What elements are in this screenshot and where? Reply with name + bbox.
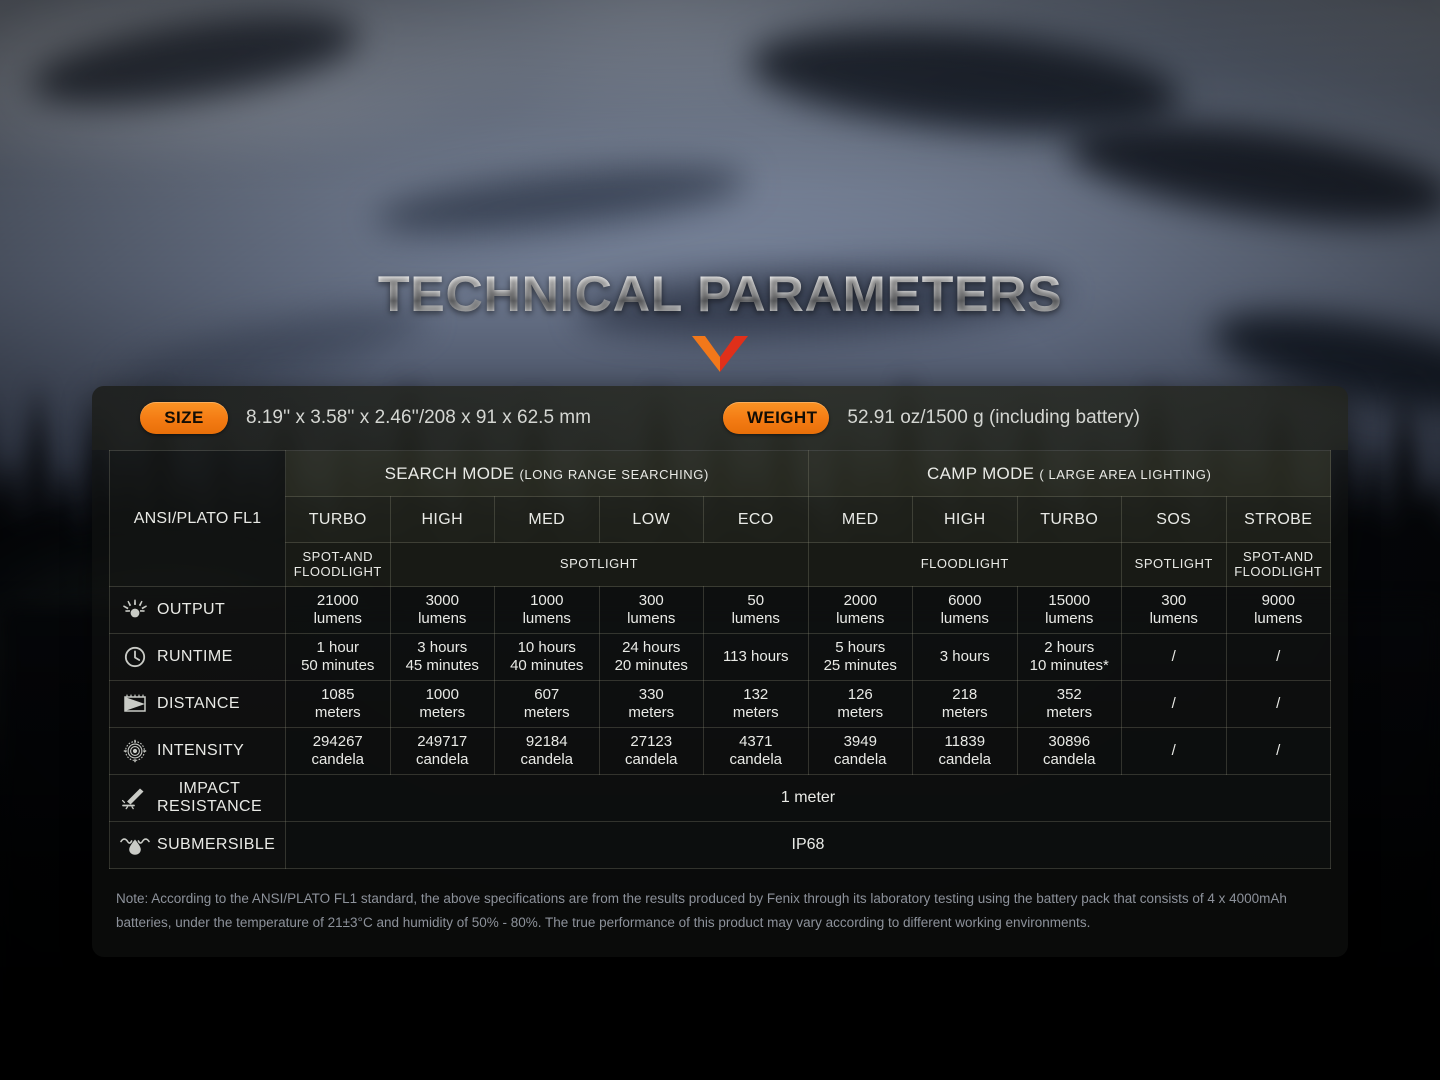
cell-value: 21000	[289, 592, 387, 610]
row-label-output: OUTPUT	[110, 587, 286, 634]
cell-distance-9: /	[1226, 681, 1331, 728]
cell-intensity-7: 30896candela	[1017, 728, 1122, 775]
cell-output-8: 300lumens	[1122, 587, 1227, 634]
cell-unit: meters	[289, 704, 387, 722]
cell-unit: lumens	[812, 610, 910, 628]
cell-impact-resistance-value: 1 meter	[286, 775, 1331, 822]
cell-value: /	[1230, 648, 1328, 666]
mode-header-6: HIGH	[913, 497, 1018, 543]
cell-value: 294267	[289, 733, 387, 751]
row-label-text: OUTPUT	[157, 601, 225, 619]
brightness-sun-icon	[120, 597, 150, 623]
size-badge-label: SIZE	[164, 408, 203, 428]
cell-output-9: 9000lumens	[1226, 587, 1331, 634]
cell-unit: lumens	[916, 610, 1014, 628]
cell-output-2: 1000lumens	[495, 587, 600, 634]
cell-value: 1000	[394, 686, 492, 704]
cell-unit: meters	[394, 704, 492, 722]
cell-value: 1 hour	[289, 639, 387, 657]
cell-unit: lumens	[498, 610, 596, 628]
mode-group-subtitle: (LONG RANGE SEARCHING)	[519, 467, 708, 482]
mode-group-header-0: SEARCH MODE (LONG RANGE SEARCHING)	[286, 451, 809, 497]
cell-unit: lumens	[394, 610, 492, 628]
cell-intensity-3: 27123candela	[599, 728, 704, 775]
title-section: TECHNICAL PARAMETERS	[0, 268, 1440, 373]
mode-header-2: MED	[495, 497, 600, 543]
mode-header-0: TURBO	[286, 497, 391, 543]
cell-value: 1085	[289, 686, 387, 704]
header-row-beams: SPOT-ANDFLOODLIGHTSPOTLIGHTFLOODLIGHTSPO…	[110, 543, 1331, 587]
table-row: IMPACTRESISTANCE1 meter	[110, 775, 1331, 822]
mode-group-name: CAMP MODE	[927, 464, 1034, 483]
mode-header-3: LOW	[599, 497, 704, 543]
cell-distance-2: 607meters	[495, 681, 600, 728]
size-value: 8.19'' x 3.58'' x 2.46''/208 x 91 x 62.5…	[246, 407, 591, 429]
cell-value: /	[1125, 695, 1223, 713]
cell-distance-5: 126meters	[808, 681, 913, 728]
mode-group-subtitle: ( LARGE AREA LIGHTING)	[1039, 467, 1211, 482]
cell-value: 50	[707, 592, 805, 610]
cell-output-4: 50lumens	[704, 587, 809, 634]
cell-value: 5 hours	[812, 639, 910, 657]
header-row-modes: TURBOHIGHMEDLOWECOMEDHIGHTURBOSOSSTROBE	[110, 497, 1331, 543]
cell-runtime-2: 10 hours40 minutes	[495, 634, 600, 681]
cell-value: 126	[812, 686, 910, 704]
cell-value: 132	[707, 686, 805, 704]
cell-unit: meters	[812, 704, 910, 722]
cell-output-1: 3000lumens	[390, 587, 495, 634]
cell-unit: candela	[812, 751, 910, 769]
weight-badge: WEIGHT	[723, 402, 829, 434]
cell-runtime-6: 3 hours	[913, 634, 1018, 681]
cell-value: /	[1230, 695, 1328, 713]
cell-unit: lumens	[603, 610, 701, 628]
cell-runtime-7: 2 hours10 minutes*	[1017, 634, 1122, 681]
cell-intensity-1: 249717candela	[390, 728, 495, 775]
row-label-text: DISTANCE	[157, 695, 240, 713]
water-drop-icon	[120, 832, 150, 858]
row-label-text: IMPACTRESISTANCE	[157, 780, 262, 815]
cell-value: 24 hours	[603, 639, 701, 657]
mode-header-9: STROBE	[1226, 497, 1331, 543]
cell-value: 20 minutes	[603, 657, 701, 675]
table-row: INTENSITY294267candela249717candela92184…	[110, 728, 1331, 775]
cell-value: 607	[498, 686, 596, 704]
cell-distance-7: 352meters	[1017, 681, 1122, 728]
weight-group: WEIGHT 52.91 oz/1500 g (including batter…	[723, 402, 1140, 434]
beam-type-header-0: SPOT-ANDFLOODLIGHT	[286, 543, 391, 587]
cell-value: 25 minutes	[812, 657, 910, 675]
mode-header-1: HIGH	[390, 497, 495, 543]
cell-value: 3949	[812, 733, 910, 751]
cell-unit: lumens	[707, 610, 805, 628]
beam-type-header-1: SPOTLIGHT	[390, 543, 808, 587]
target-intensity-icon	[120, 738, 150, 764]
cell-value: 92184	[498, 733, 596, 751]
cell-output-5: 2000lumens	[808, 587, 913, 634]
spec-panel: SIZE 8.19'' x 3.58'' x 2.46''/208 x 91 x…	[92, 386, 1348, 957]
cell-distance-8: /	[1122, 681, 1227, 728]
page-title: TECHNICAL PARAMETERS	[378, 268, 1062, 321]
cell-unit: meters	[916, 704, 1014, 722]
beam-type-header-2: FLOODLIGHT	[808, 543, 1122, 587]
row-label-distance: DISTANCE	[110, 681, 286, 728]
row-label-text: INTENSITY	[157, 742, 244, 760]
cell-value: 10 hours	[498, 639, 596, 657]
row-label-text: SUBMERSIBLE	[157, 836, 275, 854]
header-row-groups: ANSI/PLATO FL1SEARCH MODE (LONG RANGE SE…	[110, 451, 1331, 497]
cell-distance-6: 218meters	[913, 681, 1018, 728]
mode-header-8: SOS	[1122, 497, 1227, 543]
cell-runtime-4: 113 hours	[704, 634, 809, 681]
table-row: DISTANCE1085meters1000meters607meters330…	[110, 681, 1331, 728]
cell-value: 3 hours	[916, 648, 1014, 666]
size-badge: SIZE	[140, 402, 228, 434]
cell-unit: meters	[498, 704, 596, 722]
beam-type-header-3: SPOTLIGHT	[1122, 543, 1227, 587]
cell-value: 3 hours	[394, 639, 492, 657]
cell-intensity-6: 11839candela	[913, 728, 1018, 775]
cell-value: 30896	[1021, 733, 1119, 751]
cell-submersible-value: IP68	[286, 822, 1331, 869]
footnote-text: Note: According to the ANSI/PLATO FL1 st…	[92, 869, 1348, 951]
cell-value: 27123	[603, 733, 701, 751]
cell-value: /	[1230, 742, 1328, 760]
cell-output-3: 300lumens	[599, 587, 704, 634]
cell-unit: meters	[707, 704, 805, 722]
cell-unit: lumens	[289, 610, 387, 628]
cell-value: 10 minutes*	[1021, 657, 1119, 675]
mode-header-4: ECO	[704, 497, 809, 543]
cell-value: 6000	[916, 592, 1014, 610]
cell-value: 300	[603, 592, 701, 610]
impact-drop-icon	[120, 785, 150, 811]
table-row: OUTPUT21000lumens3000lumens1000lumens300…	[110, 587, 1331, 634]
cell-unit: candela	[603, 751, 701, 769]
cell-value: 50 minutes	[289, 657, 387, 675]
table-row: SUBMERSIBLEIP68	[110, 822, 1331, 869]
row-label-runtime: RUNTIME	[110, 634, 286, 681]
cell-value: 249717	[394, 733, 492, 751]
beam-distance-icon	[120, 691, 150, 717]
weight-badge-label: WEIGHT	[747, 408, 817, 428]
cell-value: 330	[603, 686, 701, 704]
cell-unit: lumens	[1230, 610, 1328, 628]
cell-distance-1: 1000meters	[390, 681, 495, 728]
cell-value: 15000	[1021, 592, 1119, 610]
cell-unit: candela	[707, 751, 805, 769]
weight-value: 52.91 oz/1500 g (including battery)	[847, 407, 1140, 429]
cell-intensity-0: 294267candela	[286, 728, 391, 775]
row-label-intensity: INTENSITY	[110, 728, 286, 775]
specifications-table: ANSI/PLATO FL1SEARCH MODE (LONG RANGE SE…	[109, 450, 1331, 869]
cell-intensity-9: /	[1226, 728, 1331, 775]
cell-value: 1000	[498, 592, 596, 610]
cell-intensity-2: 92184candela	[495, 728, 600, 775]
mode-group-name: SEARCH MODE	[385, 464, 515, 483]
cell-runtime-8: /	[1122, 634, 1227, 681]
cell-distance-3: 330meters	[599, 681, 704, 728]
cell-value: 300	[1125, 592, 1223, 610]
cell-value: 113 hours	[707, 648, 805, 666]
cell-unit: candela	[916, 751, 1014, 769]
table-row: RUNTIME1 hour50 minutes3 hours45 minutes…	[110, 634, 1331, 681]
cell-intensity-5: 3949candela	[808, 728, 913, 775]
cell-runtime-5: 5 hours25 minutes	[808, 634, 913, 681]
cell-value: 2 hours	[1021, 639, 1119, 657]
cell-value: 352	[1021, 686, 1119, 704]
cell-distance-0: 1085meters	[286, 681, 391, 728]
mode-header-5: MED	[808, 497, 913, 543]
cell-unit: meters	[603, 704, 701, 722]
cell-unit: lumens	[1125, 610, 1223, 628]
cell-unit: candela	[1021, 751, 1119, 769]
cell-value: 11839	[916, 733, 1014, 751]
row-label-text: RUNTIME	[157, 648, 233, 666]
cell-runtime-0: 1 hour50 minutes	[286, 634, 391, 681]
clock-icon	[120, 644, 150, 670]
cell-intensity-8: /	[1122, 728, 1227, 775]
row-label-impact-resistance: IMPACTRESISTANCE	[110, 775, 286, 822]
cell-unit: candela	[394, 751, 492, 769]
cell-value: 3000	[394, 592, 492, 610]
cell-output-0: 21000lumens	[286, 587, 391, 634]
cell-unit: candela	[498, 751, 596, 769]
cell-value: 45 minutes	[394, 657, 492, 675]
chevron-down-icon	[0, 335, 1440, 373]
cell-unit: lumens	[1021, 610, 1119, 628]
cell-output-6: 6000lumens	[913, 587, 1018, 634]
cell-value: 2000	[812, 592, 910, 610]
meta-bar: SIZE 8.19'' x 3.58'' x 2.46''/208 x 91 x…	[92, 386, 1348, 450]
cell-intensity-4: 4371candela	[704, 728, 809, 775]
cell-value: /	[1125, 648, 1223, 666]
cell-runtime-9: /	[1226, 634, 1331, 681]
beam-type-header-4: SPOT-ANDFLOODLIGHT	[1226, 543, 1331, 587]
mode-header-7: TURBO	[1017, 497, 1122, 543]
cell-value: /	[1125, 742, 1223, 760]
cell-runtime-3: 24 hours20 minutes	[599, 634, 704, 681]
cell-output-7: 15000lumens	[1017, 587, 1122, 634]
row-label-submersible: SUBMERSIBLE	[110, 822, 286, 869]
mode-group-header-1: CAMP MODE ( LARGE AREA LIGHTING)	[808, 451, 1331, 497]
cell-value: 4371	[707, 733, 805, 751]
cell-unit: candela	[289, 751, 387, 769]
cell-runtime-1: 3 hours45 minutes	[390, 634, 495, 681]
cell-distance-4: 132meters	[704, 681, 809, 728]
cell-value: 9000	[1230, 592, 1328, 610]
table-corner-label: ANSI/PLATO FL1	[110, 451, 286, 587]
cell-value: 218	[916, 686, 1014, 704]
cell-unit: meters	[1021, 704, 1119, 722]
cell-value: 40 minutes	[498, 657, 596, 675]
